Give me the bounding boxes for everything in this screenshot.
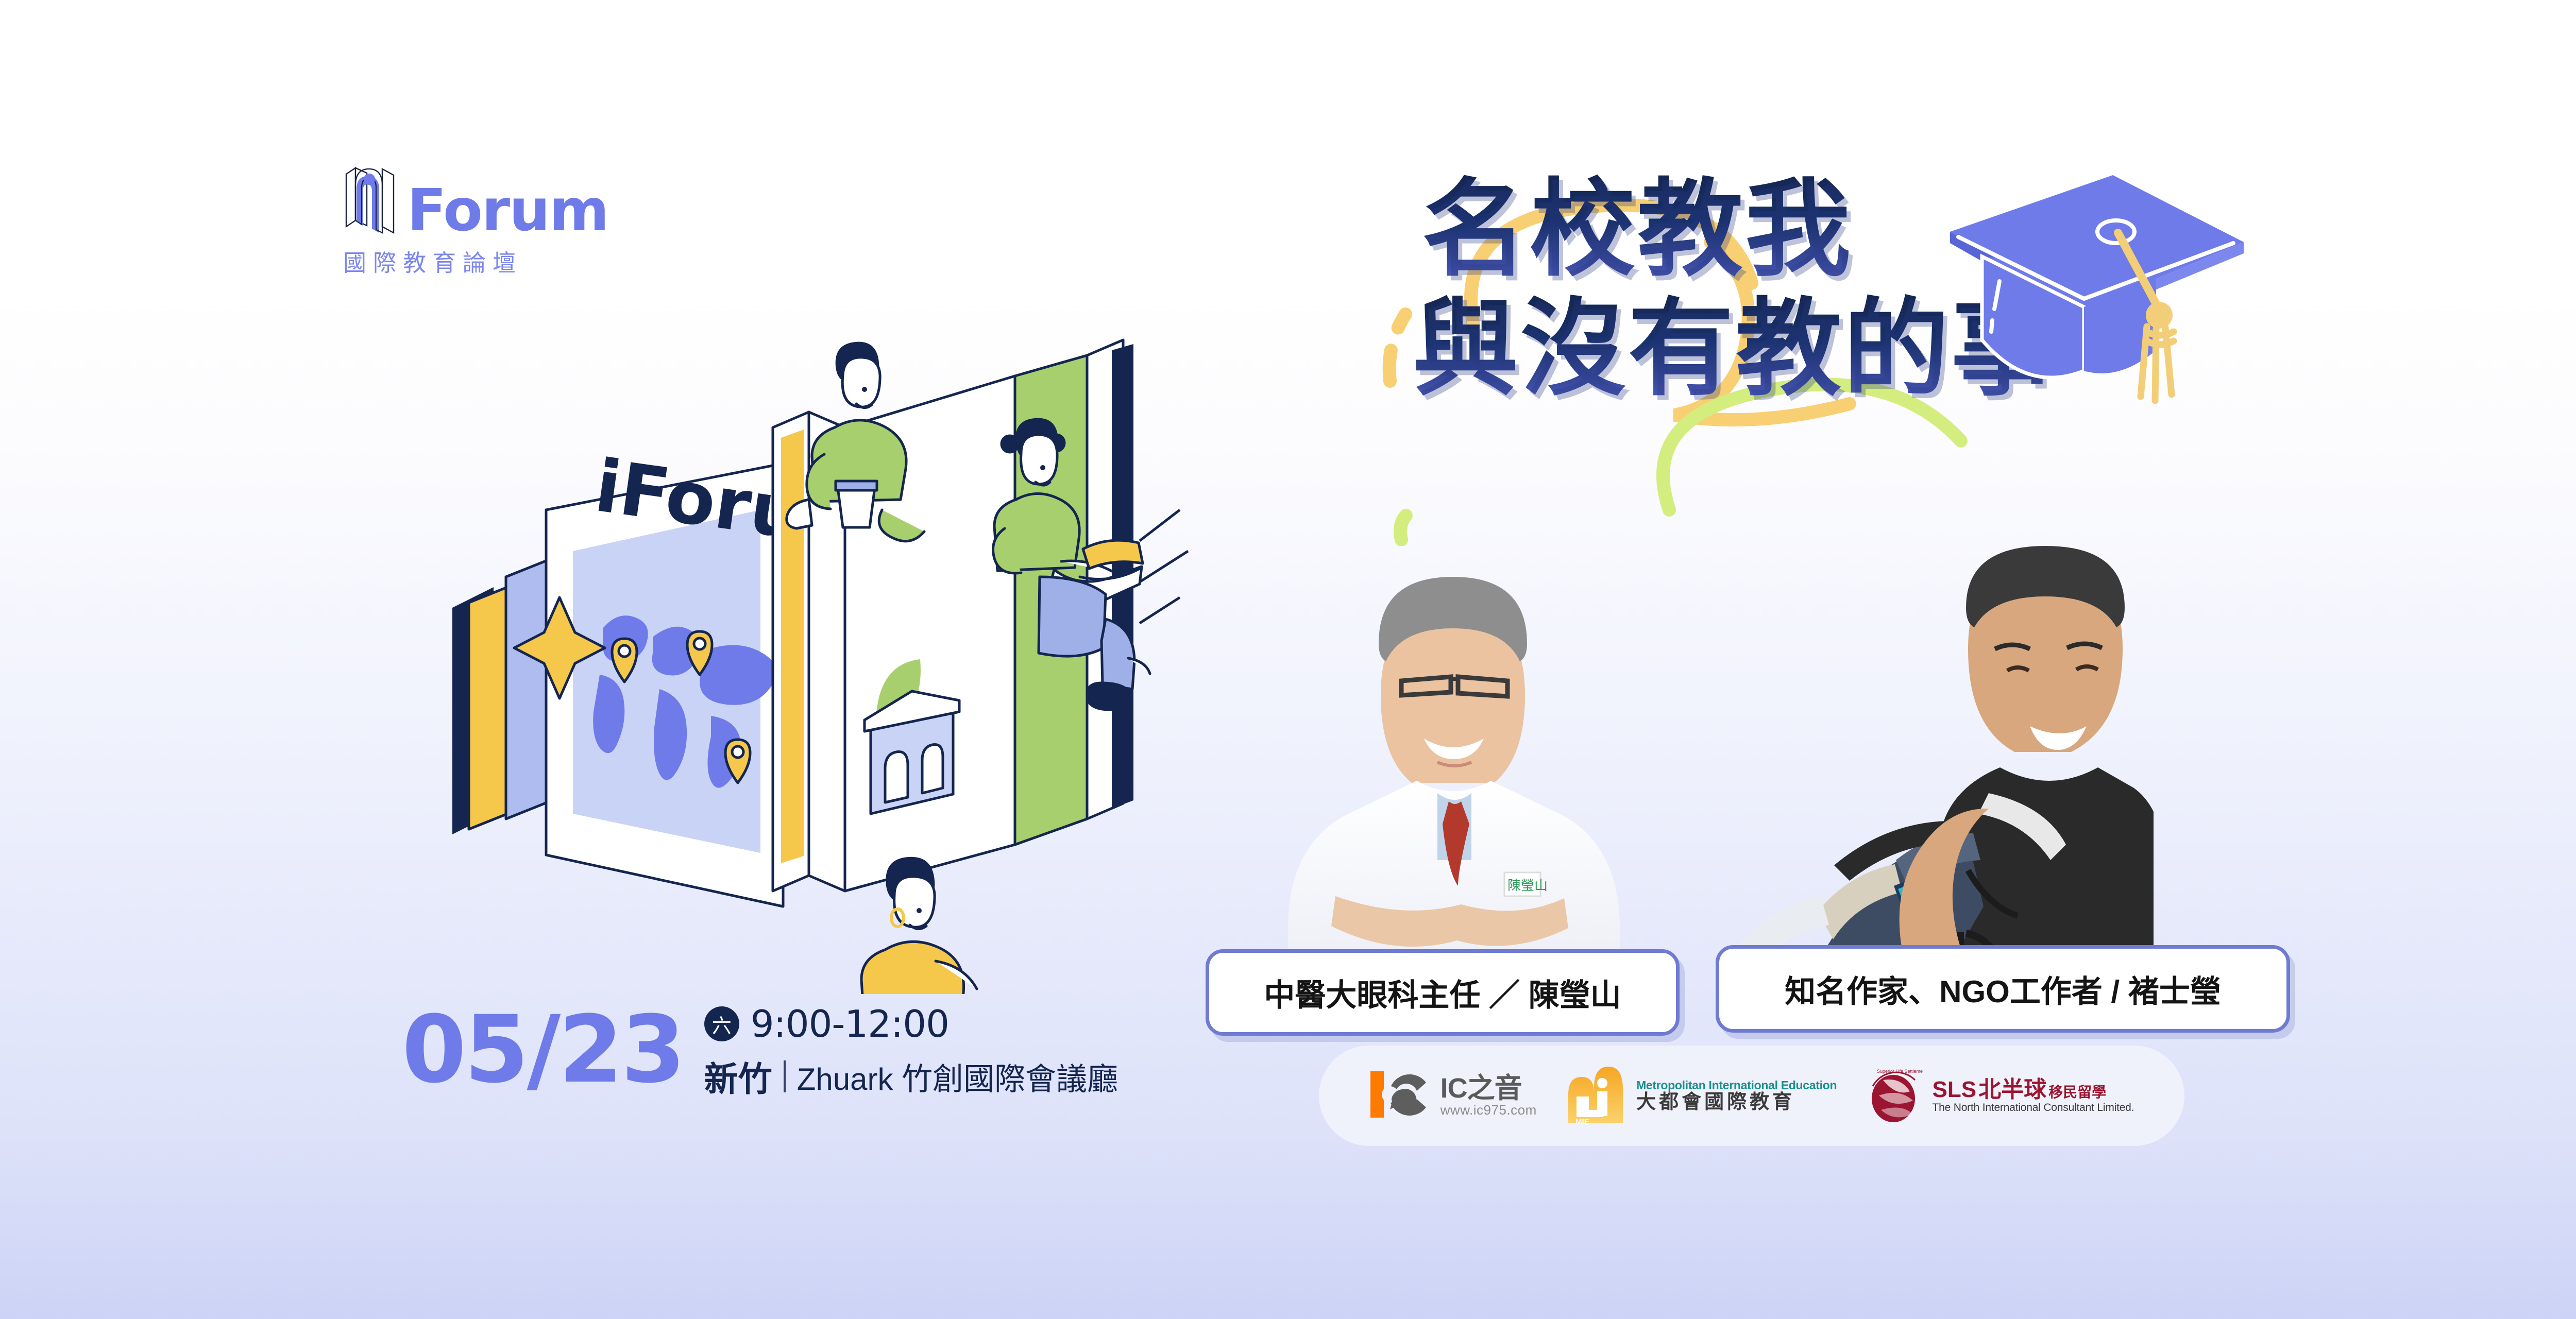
sponsor-sls-mark: SLS xyxy=(1933,1078,1977,1102)
sponsor-mie[interactable]: MIE Metropolitan International Education… xyxy=(1565,1063,1837,1129)
sponsor-sls-name-zh: 北半球 xyxy=(1978,1078,2046,1102)
iforum-arch-logo-icon xyxy=(340,160,398,237)
speaker-photo-writer xyxy=(1680,479,2154,968)
event-date: 05/23 xyxy=(402,1004,684,1097)
sponsor-ic975[interactable]: IC之音 www.ic975.com xyxy=(1369,1067,1537,1124)
mie-logo-icon: MIE xyxy=(1565,1063,1627,1129)
weekday-badge: 六 xyxy=(704,1006,739,1041)
speaker-nametag-2: 知名作家、NGO工作者 / 褚士瑩 xyxy=(1716,945,2290,1033)
speaker-nametag-2-text: 知名作家、NGO工作者 / 褚士瑩 xyxy=(1785,967,2221,1012)
ic975-logo-icon xyxy=(1369,1067,1431,1124)
mie-mark: MIE xyxy=(1575,1118,1589,1126)
sls-logo-icon: Superior Life Settlement xyxy=(1866,1065,1923,1127)
event-venue: Zhuark 竹創國際會議廳 xyxy=(797,1054,1118,1099)
speaker-nametag-1-text: 中醫大眼科主任 ／ 陳瑩山 xyxy=(1264,970,1621,1015)
sponsor-sls[interactable]: Superior Life Settlement SLS 北半球 移民留學 Th… xyxy=(1866,1065,2134,1127)
sponsor-ic975-url: www.ic975.com xyxy=(1440,1103,1537,1118)
venue-divider xyxy=(784,1060,786,1092)
svg-text:陳瑩山: 陳瑩山 xyxy=(1507,878,1548,893)
sponsor-ic975-name: IC之音 xyxy=(1440,1074,1537,1103)
event-datetime-block: 05/23 六 9:00-12:00 新竹 Zhuark 竹創國際會議廳 xyxy=(402,999,1118,1101)
event-time: 9:00-12:00 xyxy=(751,1002,949,1046)
event-city: 新竹 xyxy=(704,1052,772,1101)
graduation-cap-icon xyxy=(1914,155,2254,474)
svg-text:Superior Life Settlement: Superior Life Settlement xyxy=(1877,1069,1923,1074)
sponsor-bar: IC之音 www.ic975.com MIE Metropolitan Inte… xyxy=(1319,1046,2184,1146)
sponsor-mie-name-zh: 大都會國際教育 xyxy=(1636,1092,1837,1112)
speaker-photo-doctor: 陳瑩山 xyxy=(1216,489,1680,968)
open-book-education-illustration: iForum xyxy=(392,221,1267,994)
sponsor-mie-name-en: Metropolitan International Education xyxy=(1636,1079,1837,1091)
speaker-nametag-1: 中醫大眼科主任 ／ 陳瑩山 xyxy=(1206,949,1680,1036)
sponsor-sls-sub: The North International Consultant Limit… xyxy=(1933,1102,2134,1114)
sponsor-sls-small-zh: 移民留學 xyxy=(2048,1085,2106,1100)
